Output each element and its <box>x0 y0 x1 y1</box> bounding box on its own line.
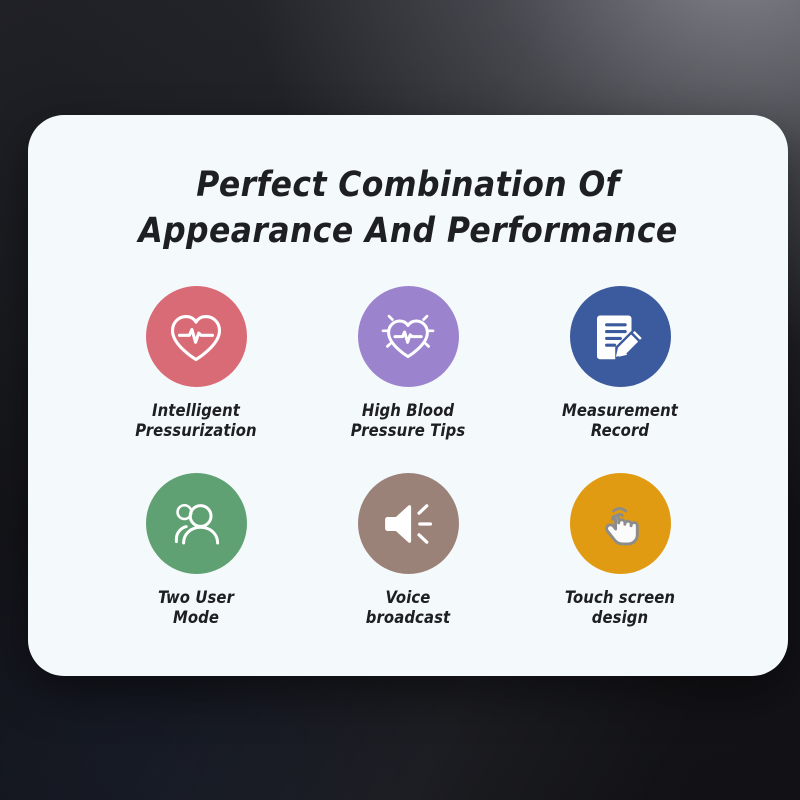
feature-label-line-1: Intelligent <box>152 401 240 420</box>
feature-label-line-2: Pressurization <box>135 421 256 441</box>
feature-label-line-2: Mode <box>158 608 234 628</box>
feature-label-line-1: Two User <box>158 588 234 607</box>
feature-label-line-2: Record <box>562 421 678 441</box>
feature-label-touch-screen-design: Touch screen design <box>565 588 675 628</box>
feature-label-line-2: Pressure Tips <box>351 421 466 441</box>
page-title: Perfect Combination Of Appearance And Pe… <box>28 115 788 254</box>
document-pencil-icon <box>591 308 649 366</box>
page-title-line-2: Appearance And Performance <box>68 209 748 255</box>
tap-hand-icon <box>591 495 649 553</box>
feature-label-voice-broadcast: Voice broadcast <box>366 588 450 628</box>
feature-item-two-user-mode[interactable]: Two User Mode <box>90 473 302 660</box>
speaker-sound-icon <box>378 495 438 553</box>
feature-item-voice-broadcast[interactable]: Voice broadcast <box>302 473 514 660</box>
feature-badge-voice-broadcast <box>358 473 459 574</box>
feature-badge-high-blood-pressure-tips <box>358 286 459 387</box>
heart-pulse-icon <box>165 306 227 368</box>
feature-badge-two-user-mode <box>146 473 247 574</box>
feature-label-line-1: Measurement <box>562 401 678 420</box>
feature-label-line-1: Voice <box>386 588 431 607</box>
feature-label-intelligent-pressurization: Intelligent Pressurization <box>135 401 256 441</box>
two-users-icon <box>166 495 226 553</box>
feature-item-intelligent-pressurization[interactable]: Intelligent Pressurization <box>90 286 302 473</box>
feature-label-line-2: design <box>565 608 675 628</box>
feature-item-measurement-record[interactable]: Measurement Record <box>514 286 726 473</box>
feature-item-touch-screen-design[interactable]: Touch screen design <box>514 473 726 660</box>
feature-label-high-blood-pressure-tips: High Blood Pressure Tips <box>351 401 466 441</box>
feature-label-line-1: Touch screen <box>565 588 675 607</box>
feature-badge-touch-screen-design <box>570 473 671 574</box>
page-title-line-1: Perfect Combination Of <box>68 163 748 209</box>
heart-pulse-alert-icon <box>375 306 441 368</box>
feature-label-line-2: broadcast <box>366 608 450 628</box>
feature-item-high-blood-pressure-tips[interactable]: High Blood Pressure Tips <box>302 286 514 473</box>
feature-label-two-user-mode: Two User Mode <box>158 588 234 628</box>
feature-badge-measurement-record <box>570 286 671 387</box>
feature-card: Perfect Combination Of Appearance And Pe… <box>28 115 788 676</box>
feature-label-measurement-record: Measurement Record <box>562 401 678 441</box>
feature-label-line-1: High Blood <box>362 401 454 420</box>
feature-grid: Intelligent Pressurization <box>28 286 788 660</box>
feature-badge-intelligent-pressurization <box>146 286 247 387</box>
